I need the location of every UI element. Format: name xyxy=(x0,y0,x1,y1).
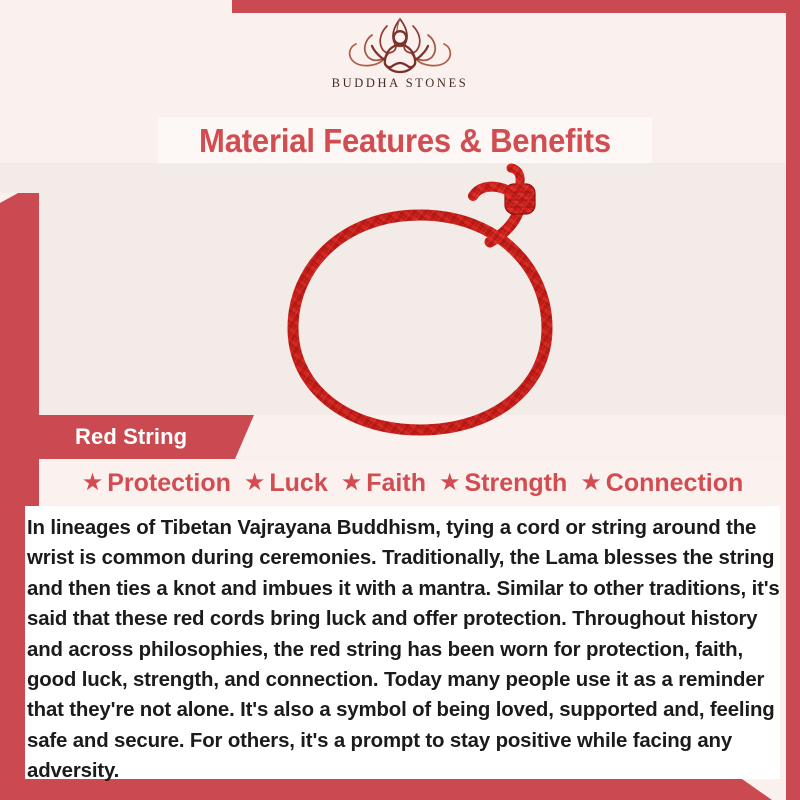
lotus-meditation-icon xyxy=(327,13,473,75)
benefit-label: Protection xyxy=(107,469,231,498)
benefit-label: Strength xyxy=(464,469,567,498)
benefit-label: Faith xyxy=(366,469,426,498)
benefit-strength: ★ Strength xyxy=(439,469,567,498)
star-icon: ★ xyxy=(82,471,104,495)
description-paragraph: In lineages of Tibetan Vajrayana Buddhis… xyxy=(25,506,780,787)
star-icon: ★ xyxy=(580,471,602,495)
benefit-protection: ★ Protection xyxy=(82,469,231,498)
description-block: In lineages of Tibetan Vajrayana Buddhis… xyxy=(25,506,780,779)
infographic-canvas: BUDDHA STONES Material Features & Benefi… xyxy=(0,0,800,800)
benefit-label: Luck xyxy=(269,469,327,498)
benefit-label: Connection xyxy=(606,469,744,498)
product-name-label: Red String xyxy=(39,424,187,450)
brand-name: BUDDHA STONES xyxy=(332,76,469,91)
benefit-connection: ★ Connection xyxy=(580,469,743,498)
star-icon: ★ xyxy=(244,471,266,495)
star-icon: ★ xyxy=(439,471,461,495)
benefit-faith: ★ Faith xyxy=(341,469,426,498)
star-icon: ★ xyxy=(341,471,363,495)
page-title: Material Features & Benefits xyxy=(173,116,637,165)
frame-top-bar xyxy=(232,0,800,13)
benefits-row: ★ Protection ★ Luck ★ Faith ★ Strength ★… xyxy=(39,461,786,505)
header: BUDDHA STONES Material Features & Benefi… xyxy=(0,13,800,163)
product-name-banner: Red String xyxy=(39,415,254,459)
benefit-luck: ★ Luck xyxy=(244,469,328,498)
hero-left-filler xyxy=(0,163,39,193)
banner-left-strip xyxy=(0,415,39,459)
red-string-bracelet-image xyxy=(255,160,585,450)
brand-logo: BUDDHA STONES xyxy=(0,13,800,109)
